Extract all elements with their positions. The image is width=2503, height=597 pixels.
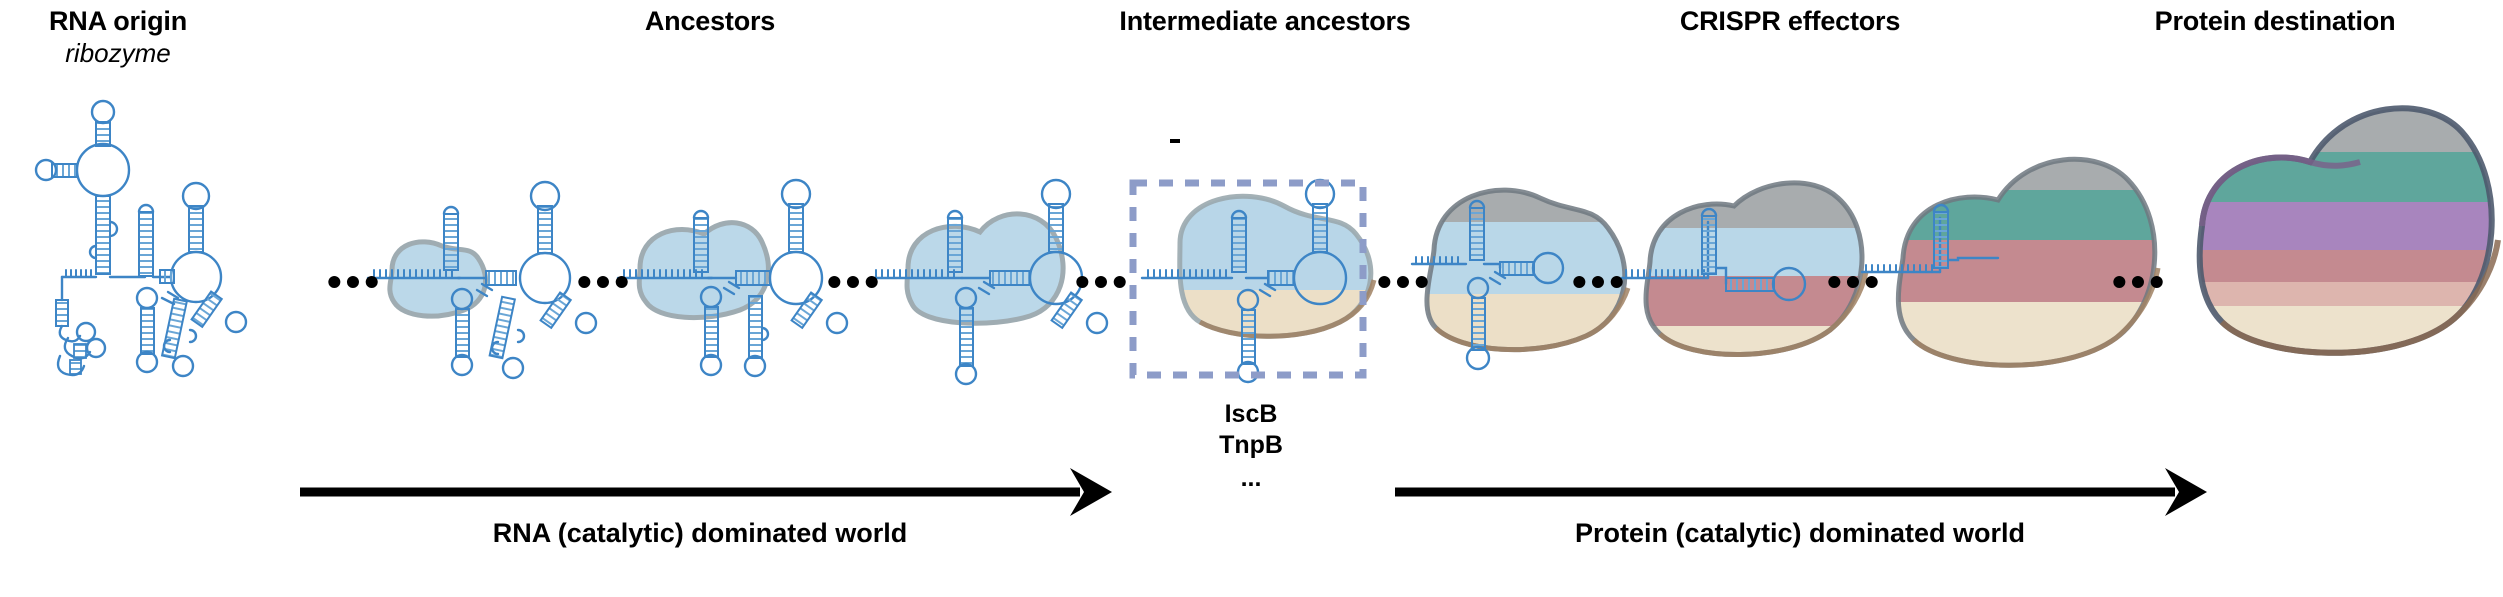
- panel-1-ribozyme: [36, 101, 246, 376]
- panel-9-destination: [2180, 90, 2503, 376]
- protein-world-arrow: [1395, 468, 2207, 516]
- figure-canvas: RNA origin ribozyme Ancestors Intermedia…: [0, 0, 2503, 597]
- ellipsis-separator: •••: [1827, 261, 1883, 303]
- protein-world-caption: Protein (catalytic) dominated world: [1575, 518, 2025, 549]
- protein-blob-six-band: [2180, 90, 2503, 376]
- protein-blob-large: [907, 214, 1063, 323]
- rna-world-arrow: [300, 468, 1112, 516]
- highlight-box-label-more: ...: [1241, 464, 1262, 493]
- highlight-box-label-iscb: IscB: [1225, 400, 1278, 429]
- panel-5-intermediate: [1133, 139, 1390, 382]
- ellipsis-separator: •••: [827, 261, 883, 303]
- highlight-box-label-tnpb: TnpB: [1219, 431, 1283, 460]
- ellipsis-separator: •••: [577, 261, 633, 303]
- rna-world-caption: RNA (catalytic) dominated world: [493, 518, 908, 549]
- panel-3-ancestor-b: [618, 180, 847, 376]
- ellipsis-separator: •••: [1075, 261, 1131, 303]
- ellipsis-separator: •••: [327, 261, 383, 303]
- ellipsis-separator: •••: [1572, 261, 1628, 303]
- ellipsis-separator: •••: [1377, 261, 1433, 303]
- ellipsis-separator: •••: [2112, 261, 2168, 303]
- panel-4-ancestor-c: [870, 180, 1107, 384]
- panel-2-ancestor-a: [368, 182, 596, 378]
